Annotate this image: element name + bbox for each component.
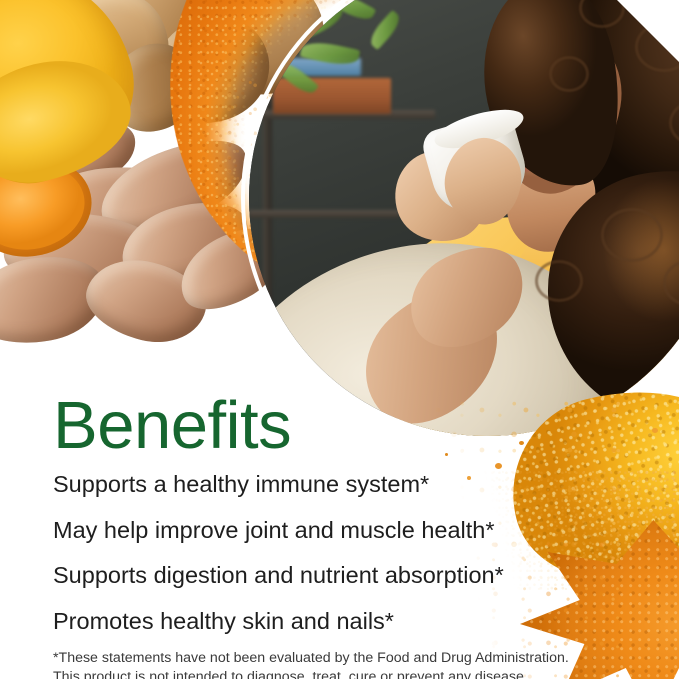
benefit-item: Supports a healthy immune system* bbox=[53, 473, 573, 497]
benefits-content: Benefits Supports a healthy immune syste… bbox=[53, 392, 573, 679]
fda-disclaimer-line-2: This product is not intended to diagnose… bbox=[53, 668, 573, 679]
fda-disclaimer-line-1: *These statements have not been evaluate… bbox=[53, 649, 573, 668]
hair-curl bbox=[535, 260, 583, 302]
top-right-corner-cut bbox=[617, 0, 679, 62]
page-title: Benefits bbox=[53, 392, 573, 459]
shelf-post bbox=[263, 20, 272, 320]
hair-curl bbox=[601, 208, 663, 262]
benefit-item: Promotes healthy skin and nails* bbox=[53, 610, 573, 634]
fda-disclaimer: *These statements have not been evaluate… bbox=[53, 649, 573, 679]
benefit-item: May help improve joint and muscle health… bbox=[53, 519, 573, 543]
benefits-list: Supports a healthy immune system* May he… bbox=[53, 473, 573, 633]
lifestyle-photo-content bbox=[249, 0, 679, 436]
powder-speck bbox=[652, 428, 658, 433]
benefit-item: Supports digestion and nutrient absorpti… bbox=[53, 564, 573, 588]
lifestyle-photo-circle bbox=[249, 0, 679, 436]
product-benefits-infographic: Benefits Supports a healthy immune syste… bbox=[0, 0, 679, 679]
shelf bbox=[249, 210, 399, 218]
hair-curl bbox=[549, 56, 589, 92]
